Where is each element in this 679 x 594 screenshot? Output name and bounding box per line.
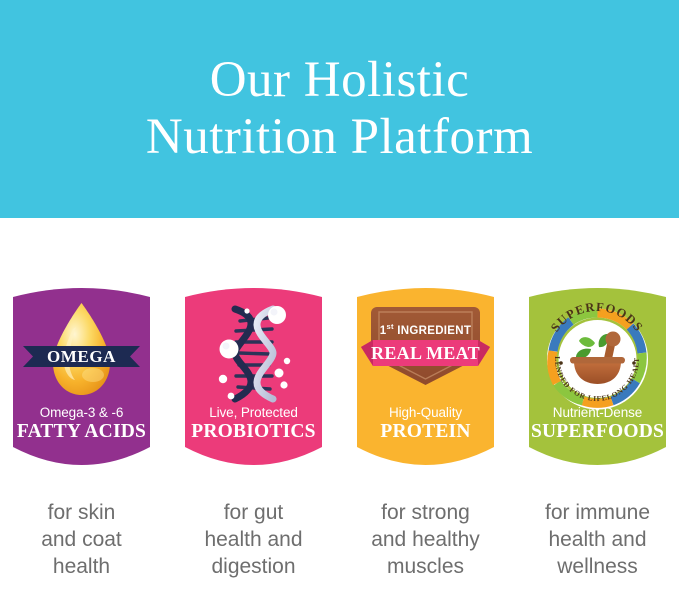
real-meat-ribbon-label: REAL MEAT [361,340,490,366]
badge-probiotics-sub: Live, Protected [185,405,322,421]
caption-probiotics-line-3: digestion [185,554,322,581]
mortar-pestle-seal-icon: SUPERFOODS BLENDED FOR LIFELONG HEALTH [529,301,666,405]
badge-superfoods-text: Nutrient-Dense SUPERFOODS [529,405,666,444]
caption-probiotics: for gut health and digestion [185,500,322,581]
badge-superfoods-sub: Nutrient-Dense [529,405,666,421]
caption-superfoods-line-2: health and [529,527,666,554]
badge-superfoods-shield: SUPERFOODS BLENDED FOR LIFELONG HEALTH [529,287,666,474]
badge-omega-sub: Omega-3 & -6 [13,405,150,421]
badge-omega-text: Omega-3 & -6 FATTY ACIDS [13,405,150,444]
caption-protein-line-2: and healthy [357,527,494,554]
badge-protein-shield: 1st INGREDIENT REAL MEAT High-Quality PR… [357,287,494,474]
badge-probiotics-text: Live, Protected PROBIOTICS [185,405,322,444]
badge-probiotics[interactable]: Live, Protected PROBIOTICS [185,287,322,487]
badge-protein-text: High-Quality PROTEIN [357,405,494,444]
caption-omega-line-3: health [13,554,150,581]
dna-helix-icon [185,301,322,405]
caption-superfoods-line-1: for immune [529,500,666,527]
first-ingredient-label: 1st INGREDIENT [357,322,494,337]
captions-row: for skin and coat health for gut health … [0,500,679,581]
badge-omega-main: FATTY ACIDS [13,421,150,444]
caption-probiotics-line-1: for gut [185,500,322,527]
badge-omega-shield: OMEGA Omega-3 & -6 FATTY ACIDS [13,287,150,474]
page-root: Our Holistic Nutrition Platform [0,0,679,594]
page-title-line-2: Nutrition Platform [146,109,533,166]
caption-protein: for strong and healthy muscles [357,500,494,581]
badge-superfoods[interactable]: SUPERFOODS BLENDED FOR LIFELONG HEALTH [529,287,666,487]
badge-superfoods-main: SUPERFOODS [529,421,666,444]
caption-protein-line-1: for strong [357,500,494,527]
caption-omega-line-1: for skin [13,500,150,527]
omega-ribbon-label: OMEGA [23,343,140,370]
header-banner: Our Holistic Nutrition Platform [0,0,679,218]
caption-superfoods: for immune health and wellness [529,500,666,581]
caption-protein-line-3: muscles [357,554,494,581]
badge-protein-sub: High-Quality [357,405,494,421]
badge-protein-main: PROTEIN [357,421,494,444]
badge-protein[interactable]: 1st INGREDIENT REAL MEAT High-Quality PR… [357,287,494,487]
caption-omega: for skin and coat health [13,500,150,581]
badge-omega[interactable]: OMEGA Omega-3 & -6 FATTY ACIDS [13,287,150,487]
caption-omega-line-2: and coat [13,527,150,554]
badges-row: OMEGA Omega-3 & -6 FATTY ACIDS [0,287,679,487]
badge-probiotics-main: PROBIOTICS [185,421,322,444]
caption-superfoods-line-3: wellness [529,554,666,581]
real-meat-ribbon: REAL MEAT [361,340,490,366]
page-title-line-1: Our Holistic [210,52,470,109]
caption-probiotics-line-2: health and [185,527,322,554]
badge-probiotics-shield: Live, Protected PROBIOTICS [185,287,322,474]
omega-ribbon: OMEGA [23,343,140,370]
